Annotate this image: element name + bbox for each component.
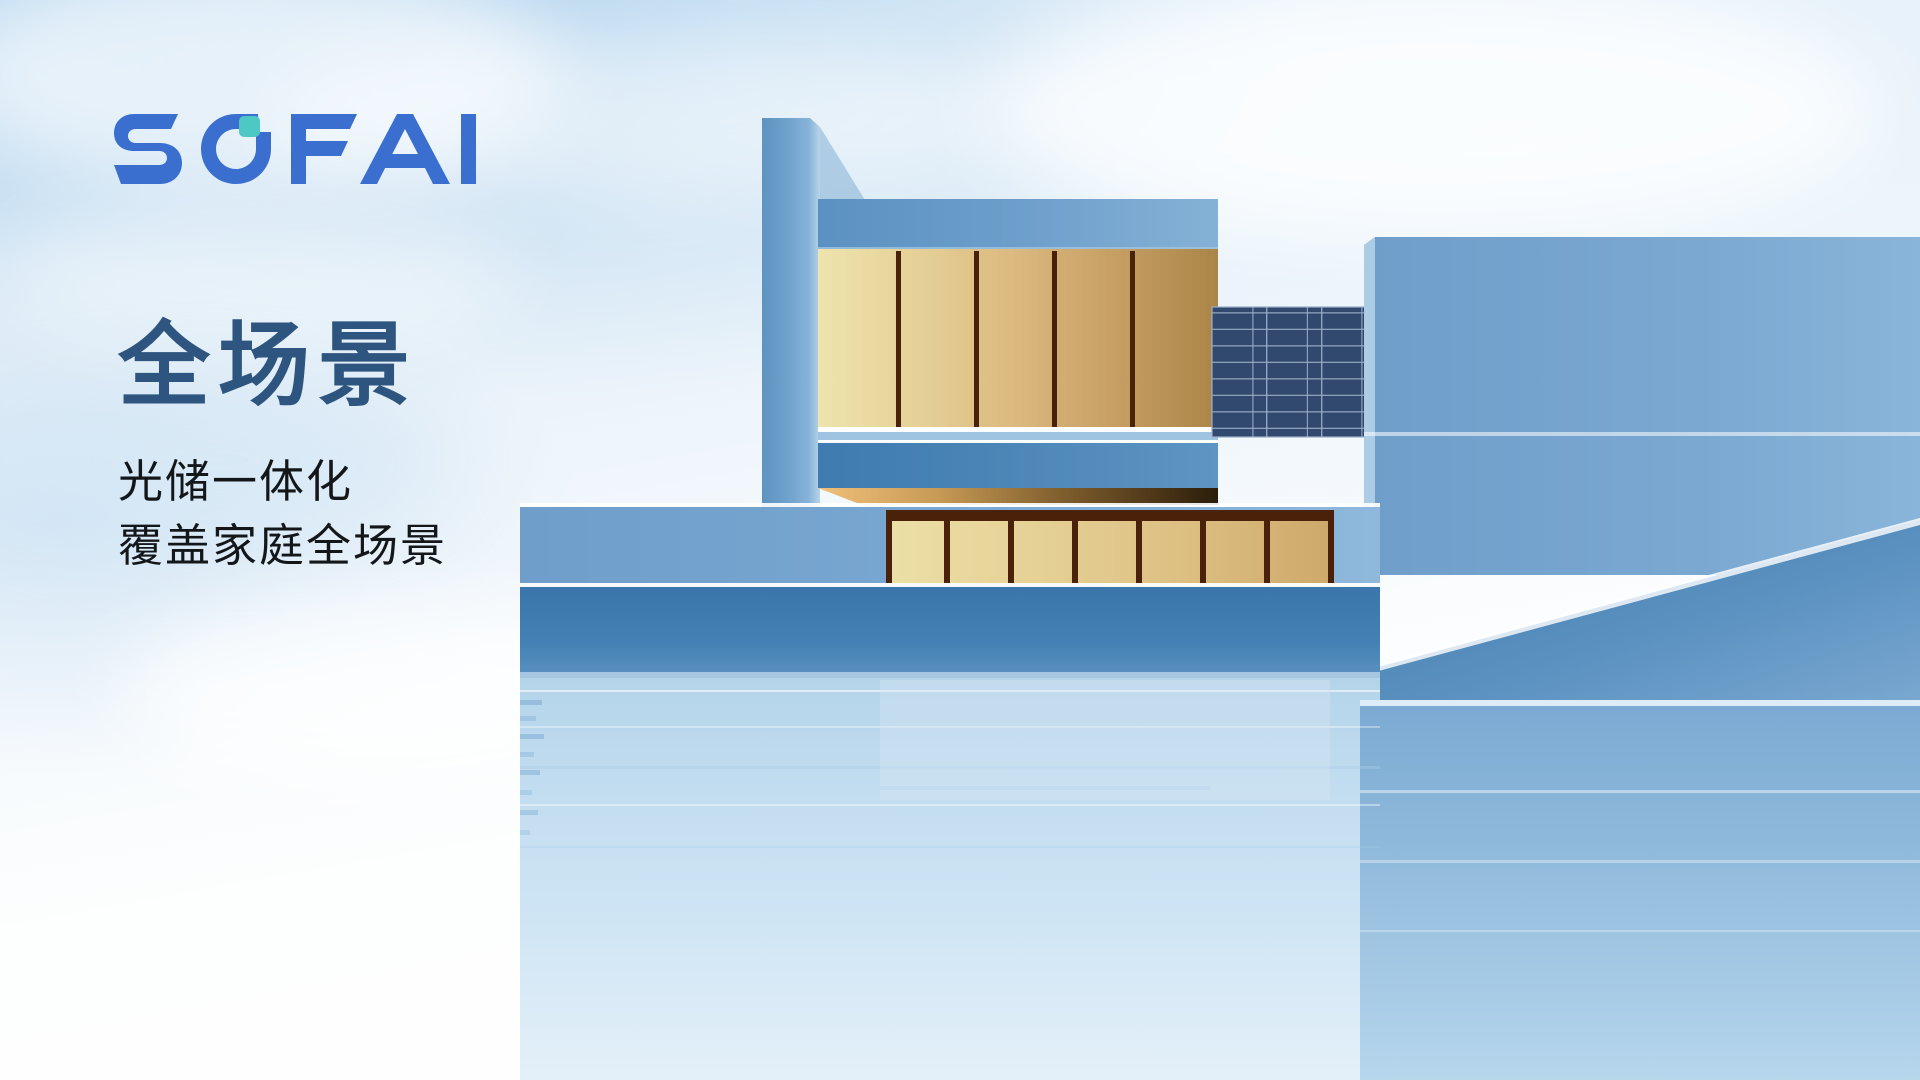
upper-roof-band [818,199,1218,250]
logo-letter-r [461,114,476,184]
podium-deep-base [520,583,1380,678]
logo-letter-s [114,114,182,184]
logo-letter-f [291,114,357,184]
logo-accent-square [239,116,260,137]
page-subtitle-line-2: 覆盖家庭全场景 [118,514,447,578]
upper-wood-facade [818,249,1218,427]
logo-letter-a [360,114,450,184]
shadow-soffit-band [818,488,1218,505]
solar-panel-array [1212,307,1377,437]
logo-letter-o [201,114,271,184]
right-tall-wall-block [1364,237,1920,575]
sofar-logo[interactable] [112,110,484,188]
page-subtitle-line-1: 光储一体化 [118,450,447,514]
page-title: 全场景 [118,318,418,415]
page-subtitle: 光储一体化 覆盖家庭全场景 [118,450,447,578]
hero-banner: 全场景 光储一体化 覆盖家庭全场景 [0,0,1920,1080]
mid-terrace-slab [818,427,1218,488]
lower-wood-window-band [886,510,1334,583]
water-reflection-foreground [520,678,1920,1080]
